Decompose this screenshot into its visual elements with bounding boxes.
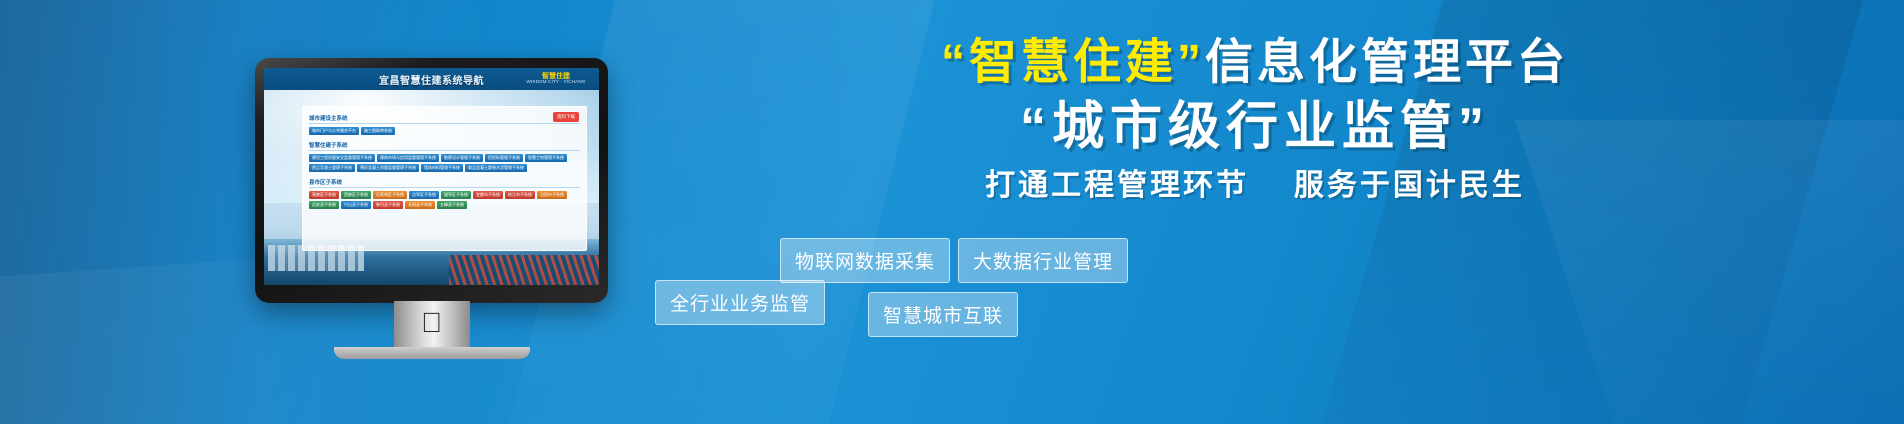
- chip-group-main: 城市门户与公共服务平台 施工图联审系统: [309, 127, 580, 135]
- nav-chip[interactable]: 预拌混凝土质量监督管理子系统: [357, 164, 419, 172]
- section-heading-sub: 智慧住建子系统: [309, 139, 580, 151]
- section-heading-main: 城市建设主系统: [309, 112, 580, 124]
- nav-chip[interactable]: 招投标管理子系统: [485, 154, 523, 162]
- headline-line-2: “城市级行业监管”: [650, 100, 1860, 155]
- monitor-bezel: 宜昌智慧住建系统导航 智慧住建 WISDOM CITY · YICHANG 资料…: [255, 58, 608, 303]
- logo-secondary-text: WISDOM CITY · YICHANG: [526, 80, 585, 85]
- monitor-screen: 宜昌智慧住建系统导航 智慧住建 WISDOM CITY · YICHANG 资料…: [264, 68, 599, 285]
- nav-chip[interactable]: 长阳县子系统: [405, 201, 435, 209]
- nav-chip[interactable]: 猇亭区子系统: [441, 191, 471, 199]
- chip-group-sub: 建设工程质量安全监督管理子系统 建筑市场与信用监管管理子系统 勘察设计管理子系统…: [309, 154, 580, 172]
- feature-tag-iot[interactable]: 物联网数据采集: [780, 238, 950, 283]
- nav-chip[interactable]: 勘察设计管理子系统: [441, 154, 483, 162]
- headline-line-3-b: 服务于国计民生: [1294, 169, 1525, 202]
- nav-chip[interactable]: 五峰县子系统: [437, 201, 467, 209]
- nav-chip[interactable]: 墙体材料管理子系统: [421, 164, 463, 172]
- nav-chip[interactable]: 商品混凝土散装水泥管理子系统: [465, 164, 527, 172]
- nav-chip[interactable]: 城市门户与公共服务平台: [309, 127, 359, 135]
- screen-title: 宜昌智慧住建系统导航: [379, 72, 484, 87]
- promo-banner: 宜昌智慧住建系统导航 智慧住建 WISDOM CITY · YICHANG 资料…: [0, 0, 1904, 424]
- nav-chip[interactable]: 宜都市子系统: [473, 191, 503, 199]
- feature-tag-supervision[interactable]: 全行业业务监管: [655, 280, 825, 325]
- headline-line-1-rest: 信息化管理平台: [1205, 36, 1569, 89]
- screen-body: 资料下载 城市建设主系统 城市门户与公共服务平台 施工图联审系统 智慧住建子系统…: [264, 90, 599, 285]
- headline-line-1-highlight: “智慧住建”: [941, 36, 1205, 89]
- nav-chip[interactable]: 建设工程质量安全监督管理子系统: [309, 154, 375, 162]
- nav-chip[interactable]: 枝江市子系统: [505, 191, 535, 199]
- feature-tag-group: 物联网数据采集 大数据行业管理 全行业业务监管 智慧城市互联: [640, 232, 1870, 362]
- nav-chip[interactable]: 当阳市子系统: [537, 191, 567, 199]
- download-button[interactable]: 资料下载: [553, 112, 579, 122]
- nav-chip[interactable]: 兴山县子系统: [341, 201, 371, 209]
- apple-logo-icon: : [421, 309, 442, 337]
- nav-chip[interactable]: 夷陵区子系统: [309, 191, 339, 199]
- nav-chip[interactable]: 点军区子系统: [409, 191, 439, 199]
- nav-chip[interactable]: 智慧工地管理子系统: [525, 154, 567, 162]
- feature-tag-smartcity[interactable]: 智慧城市互联: [868, 292, 1018, 337]
- nav-chip[interactable]: 扬尘及渣土管理子系统: [309, 164, 355, 172]
- nav-chip[interactable]: 西陵区子系统: [341, 191, 371, 199]
- screen-header: 宜昌智慧住建系统导航 智慧住建 WISDOM CITY · YICHANG: [264, 68, 599, 90]
- nav-chip[interactable]: 建筑市场与信用监管管理子系统: [377, 154, 439, 162]
- nav-chip[interactable]: 伍家岗区子系统: [373, 191, 407, 199]
- section-heading-county: 县市区子系统: [309, 176, 580, 188]
- headline-line-3: 打通工程管理环节 服务于国计民生: [650, 169, 1860, 202]
- nav-chip[interactable]: 远安县子系统: [309, 201, 339, 209]
- monitor-mockup: 宜昌智慧住建系统导航 智慧住建 WISDOM CITY · YICHANG 资料…: [255, 58, 608, 303]
- nav-chip[interactable]: 秭归县子系统: [373, 201, 403, 209]
- screen-logo: 智慧住建 WISDOM CITY · YICHANG: [519, 71, 593, 87]
- feature-tag-bigdata[interactable]: 大数据行业管理: [958, 238, 1128, 283]
- background-facet-5: [0, 0, 260, 424]
- monitor-stand-base: [334, 347, 530, 359]
- nav-chip[interactable]: 施工图联审系统: [361, 127, 395, 135]
- chip-group-county: 夷陵区子系统 西陵区子系统 伍家岗区子系统 点军区子系统 猇亭区子系统 宜都市子…: [309, 191, 580, 209]
- headline-line-1: “智慧住建”信息化管理平台: [650, 38, 1860, 88]
- navigation-panel: 资料下载 城市建设主系统 城市门户与公共服务平台 施工图联审系统 智慧住建子系统…: [302, 106, 587, 251]
- headline-line-3-a: 打通工程管理环节: [985, 169, 1249, 202]
- headline-block: “智慧住建”信息化管理平台 “城市级行业监管” 打通工程管理环节 服务于国计民生: [650, 38, 1860, 202]
